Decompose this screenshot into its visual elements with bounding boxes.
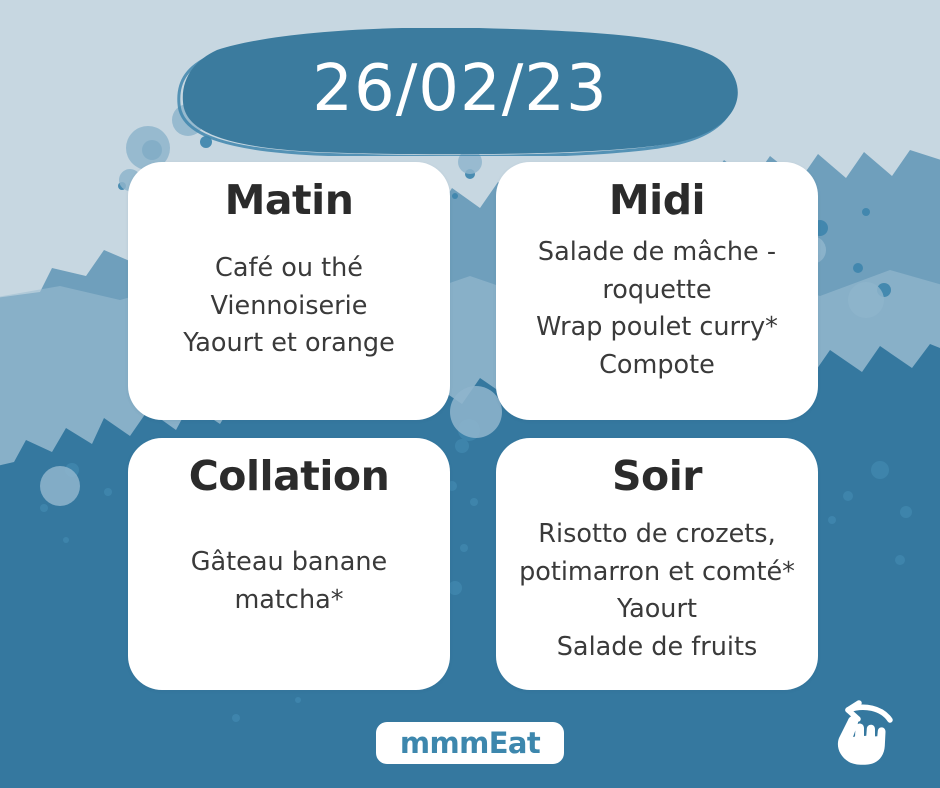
meal-card-midi[interactable]: Midi Salade de mâche - roquette Wrap pou… bbox=[496, 162, 818, 420]
meal-title-collation: Collation bbox=[189, 452, 390, 500]
date-header: 26/02/23 bbox=[175, 28, 745, 156]
meal-title-midi: Midi bbox=[609, 176, 705, 224]
meal-item: roquette bbox=[536, 272, 778, 309]
meal-item: potimarron et comté* bbox=[519, 554, 795, 591]
meal-item: Yaourt bbox=[519, 591, 795, 628]
meal-card-grid: Matin Café ou thé Viennoiserie Yaourt et… bbox=[128, 162, 818, 690]
date-value: 26/02/23 bbox=[175, 28, 745, 156]
swipe-left-hand-icon[interactable] bbox=[822, 694, 900, 770]
brand-logo-badge[interactable]: mmmEat bbox=[376, 722, 564, 764]
meal-item: Gâteau banane bbox=[191, 544, 387, 581]
brand-logo-text: mmmEat bbox=[400, 726, 540, 760]
meal-items-collation: Gâteau banane matcha* bbox=[191, 544, 387, 619]
meal-item: Compote bbox=[536, 347, 778, 384]
meal-item: Risotto de crozets, bbox=[519, 516, 795, 553]
meal-items-midi: Salade de mâche - roquette Wrap poulet c… bbox=[536, 234, 778, 384]
meal-card-soir[interactable]: Soir Risotto de crozets, potimarron et c… bbox=[496, 438, 818, 690]
meal-item: Viennoiserie bbox=[183, 288, 395, 325]
meal-items-matin: Café ou thé Viennoiserie Yaourt et orang… bbox=[183, 250, 395, 362]
meal-title-matin: Matin bbox=[225, 176, 354, 224]
meal-items-soir: Risotto de crozets, potimarron et comté*… bbox=[519, 516, 795, 666]
meal-item: Salade de fruits bbox=[519, 629, 795, 666]
meal-item: Café ou thé bbox=[183, 250, 395, 287]
meal-card-collation[interactable]: Collation Gâteau banane matcha* bbox=[128, 438, 450, 690]
meal-title-soir: Soir bbox=[612, 452, 702, 500]
meal-item: Salade de mâche - bbox=[536, 234, 778, 271]
meal-card-matin[interactable]: Matin Café ou thé Viennoiserie Yaourt et… bbox=[128, 162, 450, 420]
meal-plan-poster: 26/02/23 Matin Café ou thé Viennoiserie … bbox=[0, 0, 940, 788]
meal-item: Wrap poulet curry* bbox=[536, 309, 778, 346]
meal-item: matcha* bbox=[191, 582, 387, 619]
meal-item: Yaourt et orange bbox=[183, 325, 395, 362]
